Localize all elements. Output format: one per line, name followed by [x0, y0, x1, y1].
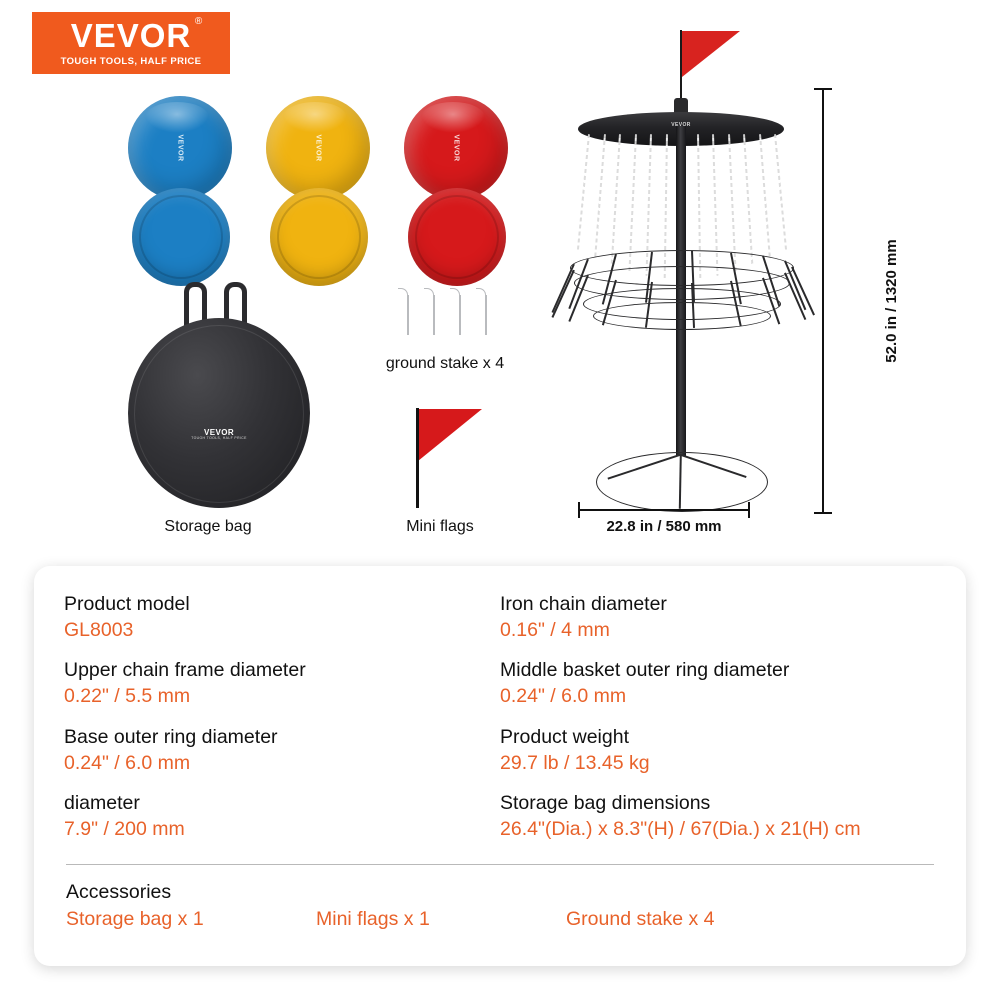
specification-grid: Product modelGL8003Iron chain diameter0.… [64, 592, 936, 858]
spec-label: Upper chain frame diameter [64, 658, 490, 684]
disc-brand-print: VEVOR [453, 134, 460, 161]
bag-brand-print: VEVOR TOUGH TOOLS, HALF PRICE [191, 429, 247, 441]
disc-brand-print: VEVOR [315, 134, 322, 161]
basket-rib [784, 272, 806, 320]
bag-body [128, 318, 310, 508]
basket-flag-pole [680, 30, 682, 102]
accessories-label: Accessories [66, 879, 934, 906]
spec-row: Upper chain frame diameter0.22" / 5.5 mm [64, 658, 500, 709]
spec-row: Iron chain diameter0.16" / 4 mm [500, 592, 936, 643]
ground-stake [398, 288, 408, 335]
spec-value: 7.9" / 200 mm [64, 817, 490, 843]
spec-row: Base outer ring diameter0.24" / 6.0 mm [64, 725, 500, 776]
disc-red-top: VEVOR [404, 96, 508, 200]
spec-label: Storage bag dimensions [500, 791, 936, 817]
basket-flag-cloth [682, 31, 740, 77]
chain-strand [774, 134, 787, 252]
disc-red-bottom [408, 188, 506, 286]
spec-value: 26.4"(Dia.) x 8.3"(H) / 67(Dia.) x 21(H)… [500, 817, 936, 843]
ground-stake [424, 288, 434, 335]
accessories-section: Accessories Storage bag x 1Mini flags x … [64, 865, 936, 931]
chain-strand [577, 134, 590, 252]
width-dimension: 22.8 in / 580 mm [578, 498, 750, 532]
basket-ring-4 [593, 302, 771, 330]
spec-label: Iron chain diameter [500, 592, 936, 618]
registered-mark: ® [195, 17, 203, 27]
disc-blue-bottom [132, 188, 230, 286]
disc-blue-top: VEVOR [128, 96, 232, 200]
width-dimension-label: 22.8 in / 580 mm [578, 518, 750, 535]
caption-mini-flags: Mini flags [360, 518, 520, 536]
spec-row: diameter7.9" / 200 mm [64, 791, 500, 842]
height-dimension: 52.0 in / 1320 mm [806, 88, 866, 514]
spec-value: 0.16" / 4 mm [500, 618, 936, 644]
mini-flag-cloth [418, 409, 482, 461]
spec-label: Base outer ring diameter [64, 725, 490, 751]
accessory-item: Ground stake x 4 [566, 908, 715, 931]
width-cap-right [748, 502, 750, 518]
chain-strand [759, 134, 771, 259]
catch-basket [570, 250, 792, 330]
height-dimension-label: 52.0 in / 1320 mm [883, 239, 900, 362]
vevor-logo: VEVOR ® TOUGH TOOLS, HALF PRICE [32, 12, 230, 74]
disc-brand-print: VEVOR [177, 134, 184, 161]
storage-bag-image: VEVOR TOUGH TOOLS, HALF PRICE [128, 282, 310, 510]
height-cap-bottom [814, 512, 832, 514]
accessory-item: Storage bag x 1 [66, 908, 316, 931]
chain-strand [611, 134, 621, 266]
mini-flag-pole [416, 408, 419, 508]
spec-label: Product weight [500, 725, 936, 751]
accessories-list: Storage bag x 1Mini flags x 1Ground stak… [66, 908, 934, 931]
ground-stake [450, 288, 460, 335]
specification-card: Product modelGL8003Iron chain diameter0.… [34, 566, 966, 966]
chain-strand [594, 134, 606, 259]
width-dimension-line [578, 509, 750, 511]
spec-row: Product modelGL8003 [64, 592, 500, 643]
spec-row: Storage bag dimensions26.4"(Dia.) x 8.3"… [500, 791, 936, 842]
spec-value: 0.24" / 6.0 mm [64, 751, 490, 777]
disc-golf-basket-image: VEVOR [556, 14, 806, 514]
ground-stakes-image [398, 288, 508, 334]
caption-ground-stake: ground stake x 4 [340, 355, 550, 373]
brand-name: VEVOR [71, 17, 192, 54]
width-cap-left [578, 502, 580, 518]
spec-value: 0.24" / 6.0 mm [500, 684, 936, 710]
spec-value: 0.22" / 5.5 mm [64, 684, 490, 710]
spec-label: diameter [64, 791, 490, 817]
chain-strand [743, 134, 753, 266]
brand-tagline: TOUGH TOOLS, HALF PRICE [61, 56, 202, 67]
spec-value: GL8003 [64, 618, 490, 644]
disc-yellow-bottom [270, 188, 368, 286]
spec-label: Middle basket outer ring diameter [500, 658, 936, 684]
disc-yellow-top: VEVOR [266, 96, 370, 200]
height-cap-top [814, 88, 832, 90]
height-dimension-line [822, 88, 824, 514]
spec-row: Middle basket outer ring diameter0.24" /… [500, 658, 936, 709]
accessory-item: Mini flags x 1 [316, 908, 566, 931]
ground-stake [476, 288, 486, 335]
basket-rib [551, 270, 574, 318]
brand-wordmark: VEVOR ® [71, 19, 192, 52]
caption-storage-bag: Storage bag [108, 518, 308, 536]
spec-label: Product model [64, 592, 490, 618]
spec-value: 29.7 lb / 13.45 kg [500, 751, 936, 777]
spec-row: Product weight29.7 lb / 13.45 kg [500, 725, 936, 776]
mini-flag-image [408, 404, 494, 508]
